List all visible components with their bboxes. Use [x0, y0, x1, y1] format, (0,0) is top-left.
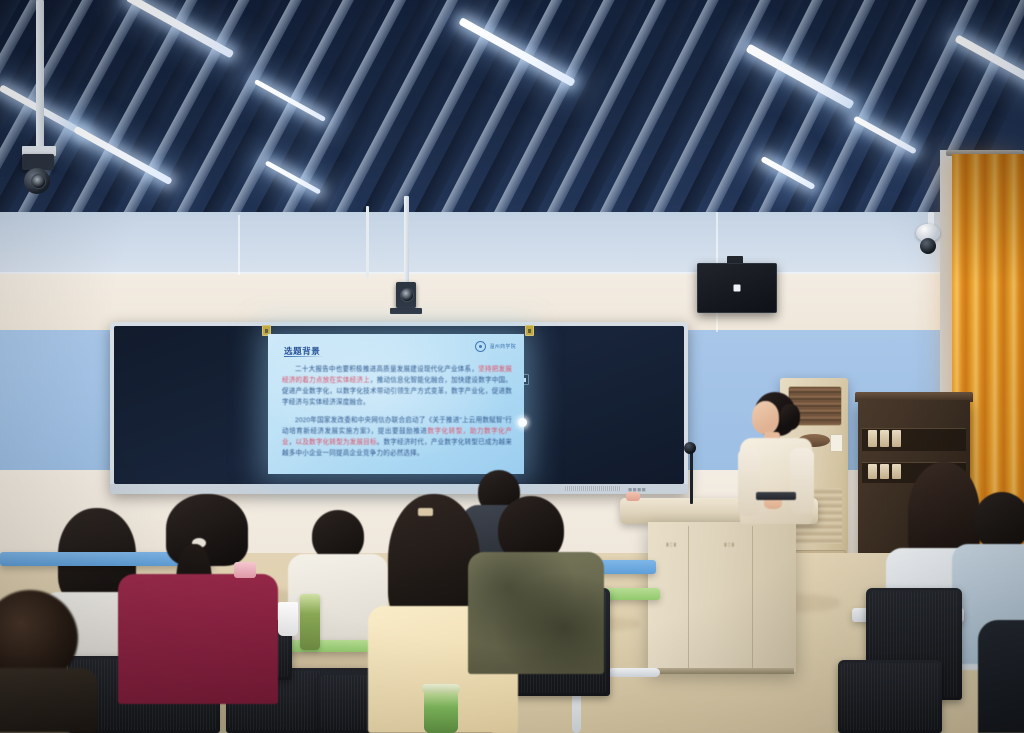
cabinet-item-3: [892, 430, 901, 447]
chair-back-far-right: [838, 660, 942, 733]
smartboard-ir-marker-top-right: [525, 325, 534, 336]
slide-text-run: ，: [289, 439, 296, 446]
cabinet-shelf-1: [862, 428, 966, 451]
ceiling-hanger-pole: [366, 206, 369, 278]
cabinet-item-2: [880, 430, 889, 447]
presenter-notes: [756, 492, 796, 500]
slide-university-logo: 温州商学院: [475, 341, 516, 352]
podium-small-object: [626, 492, 640, 501]
wall-seam-1: [238, 215, 240, 275]
podium-seam-right: [752, 526, 753, 668]
presenter-left-arm: [738, 448, 760, 516]
slide-paragraph: 二十大报告中也要积极推进高质量发展建设现代化产业体系，坚持把发展经济的着力点放在…: [282, 364, 512, 408]
cabinet-item-5: [880, 464, 889, 479]
camera-pole-center: [404, 196, 409, 284]
audience-8-head: [974, 492, 1024, 550]
presenter-hair-bun: [780, 404, 800, 430]
slide-text-run: 二十大报告中也要积极推进高质量发展建设现代化产业体系，: [295, 366, 478, 373]
lectern-podium-body[interactable]: ▮▯▮ ▮▯▮: [648, 522, 796, 672]
speaker-logo-icon: [734, 285, 741, 292]
chair-mesh-far-right: [841, 663, 939, 730]
wall-upper-band: [0, 212, 1024, 274]
slide-body-text: 二十大报告中也要积极推进高质量发展建设现代化产业体系，坚持把发展经济的着力点放在…: [282, 364, 512, 466]
green-water-bottle[interactable]: [300, 594, 320, 650]
slide-title-underline: [284, 356, 324, 357]
desk-frame-bar-curve: [608, 668, 660, 677]
podium-branding-text: ▮▯▮: [666, 542, 677, 548]
audience-5-torso: [468, 552, 604, 674]
dome-camera-lens: [920, 238, 936, 254]
pink-container[interactable]: [234, 562, 256, 578]
camera-lens-left: [31, 174, 46, 189]
presenter-right-arm: [790, 448, 814, 514]
podium-seam-left: [688, 526, 689, 668]
audience-2-torso: [118, 574, 278, 704]
smartboard-speaker-grille: [565, 486, 621, 491]
cabinet-item-6: [892, 464, 901, 479]
green-tumbler[interactable]: [424, 690, 458, 733]
audience-4-hairclip: [418, 508, 433, 516]
classroom-presentation-photo: ◼◼◼◼ 温州商学院 选题背景 二十大报告中也要积极推进高质量发展建设现代化产业…: [0, 0, 1024, 733]
gooseneck-microphone-stem: [690, 448, 693, 504]
wall-speaker[interactable]: [697, 263, 777, 313]
cabinet-item-1: [868, 430, 877, 447]
presenter-face: [752, 401, 779, 434]
audience-10-torso: [0, 668, 98, 733]
wall-dome-camera[interactable]: [906, 212, 952, 260]
wall-seam-3: [0, 272, 1024, 274]
white-paper-cup[interactable]: [278, 602, 298, 636]
slide-annotation-cursor[interactable]: [518, 418, 527, 427]
podium-branding-text-2: ▮▯▮: [724, 542, 735, 548]
green-tumbler-lid: [422, 684, 460, 693]
camera-lens-center: [400, 288, 414, 302]
presenter: [730, 392, 850, 532]
gooseneck-microphone-head[interactable]: [684, 442, 696, 454]
slide-logo-text: 温州商学院: [489, 343, 516, 350]
cabinet-item-4: [868, 464, 877, 479]
slide-paragraph: 2020年国家发改委和中央网信办联合启动了《关于推进"上云用数赋智"行动培育新经…: [282, 415, 512, 459]
university-seal-icon: [475, 341, 486, 352]
audience-9-torso: [978, 620, 1024, 733]
lectern-podium-base: [650, 668, 794, 674]
camera-pole-left: [36, 0, 44, 150]
camera-label-center: [390, 308, 422, 314]
slide-highlight-run: 以及数字化转型为发展目标: [296, 439, 377, 446]
presentation-slide[interactable]: 温州商学院 选题背景 二十大报告中也要积极推进高质量发展建设现代化产业体系，坚持…: [268, 334, 524, 474]
